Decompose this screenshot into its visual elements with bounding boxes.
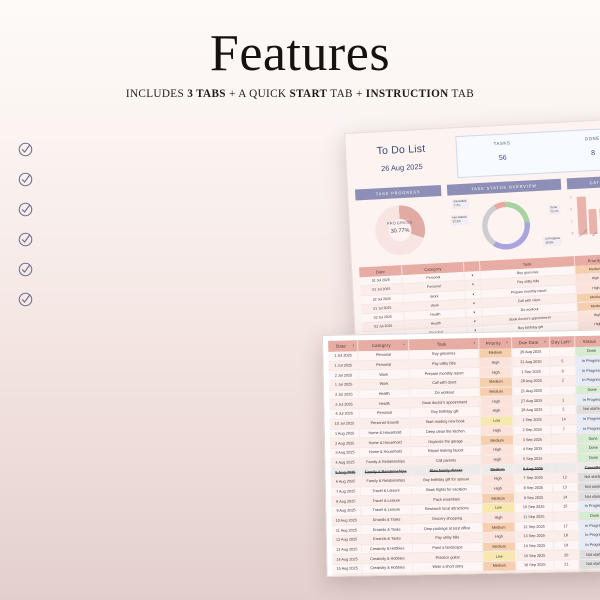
cell-days-left: 5 [550,356,576,366]
cell-task: Run 5 km [413,571,484,577]
status-donut-ring [481,200,531,250]
dashboard-title: To Do List [353,142,449,159]
feature-list [18,140,330,320]
feature-item [18,170,330,187]
category-bars [577,192,600,235]
cell-status: Not started [577,472,600,482]
check-circle-icon [18,142,33,157]
cell-category: Fitness & Sports [362,573,413,577]
cell-days-left: 15 [553,502,579,512]
cell-date: 1 Jul 2025 [329,360,359,370]
dashboard-brand: To Do List 26 Aug 2025 [352,137,450,184]
cell-status: Not started [577,482,600,492]
cell-status: In Progress [578,501,600,511]
cell-date: 4 Aug 2025 [330,457,360,467]
panel-task-status: TASK STATUS OVERVIEW Cancelled7.7% Not s… [446,173,564,258]
cell-days-left [550,347,575,357]
panel-task-progress: TASK PROGRESS PROGRESS 30.77% [355,179,445,262]
cell-date: 1 Jul 2025 [329,380,359,390]
cell-date: 1 Aug 2025 [330,428,360,438]
cell-days-left: 7 [551,424,577,434]
front-column-header[interactable]: Status▾ [575,336,600,348]
dashboard-panel-bars: TASK PROGRESS PROGRESS 30.77% TASK STATU… [355,169,600,263]
front-column-header[interactable]: Due Date▾ [512,337,550,349]
cell-date: 8 Aug 2025 [331,496,361,506]
feature-heading [18,200,330,217]
cell-days-left: 12 [552,473,578,483]
cell-date: 12 Aug 2025 [332,535,362,545]
feature-heading [18,230,330,247]
cell-priority: Low [483,551,516,561]
cell-date: 11 Aug 2025 [332,525,362,535]
cell-date: 16 Aug 2025 [333,574,363,577]
kpi-tasks-label: TASKS [457,138,548,148]
feature-heading [18,170,330,187]
feature-item [18,260,330,277]
cell-days-left: 18 [553,531,579,541]
cell-status: Not started [578,491,600,501]
cell-date: 10 Aug 2025 [331,515,361,525]
feature-item [18,290,330,307]
status-donut-chart: Cancelled7.7% Not started32.3% Done23.1%… [447,190,564,258]
cell-due-date: 17 Sep 2025 [516,570,554,577]
feature-heading [18,140,330,157]
feature-item [18,200,330,217]
cell-days-left [553,511,579,521]
cell-status: In Progress [579,540,600,550]
cell-priority: Medium [483,561,516,571]
check-circle-icon [18,292,33,307]
cell-days-left: 21 [554,560,580,570]
cell-days-left [551,434,577,444]
cell-status: Done [577,453,600,463]
status-label-cancelled: Cancelled7.7% [451,199,468,210]
cell-status: Done [576,385,600,395]
cell-days-left [552,463,578,473]
kpi-box: TASKS 56 DONE 8 [455,127,600,179]
status-label-done: Done23.1% [548,205,561,215]
cell-priority: High [480,406,513,416]
filter-caret-icon[interactable]: ▾ [506,340,508,344]
filter-caret-icon[interactable]: ▾ [569,339,571,343]
cell-date: 9 Aug 2025 [331,506,361,516]
cell-priority: Medium [481,464,514,474]
category-y-axis: 3210 [570,195,574,235]
cell-status: Cancelled [577,462,600,472]
cell-status: In Progress [576,394,600,404]
cell-date: 2 Jul 2025 [329,390,359,400]
cell-date: 14 Aug 2025 [332,554,362,564]
cell-date: 2 Aug 2025 [330,438,360,448]
front-table: Date▾Category▾Task▾Priority▾Due Date▾Day… [328,336,600,577]
front-column-header[interactable]: Priority▾ [479,337,512,349]
cell-days-left: 1 [550,395,576,405]
cell-days-left: 13 [552,482,578,492]
cell-date: 13 Aug 2025 [332,545,362,555]
category-y-tick: 0 [572,231,574,235]
cell-priority: Medium [480,387,513,397]
cell-status: Done [575,347,600,357]
cell-days-left: 20 [553,550,579,560]
cell-priority: High [481,474,514,484]
page-title: Features [0,24,600,83]
cell-date: 7 Aug 2025 [331,486,361,496]
cell-date: 4 Jul 2025 [329,409,359,419]
cell-date: 15 Aug 2025 [332,564,362,574]
cell-priority: Medium [479,377,512,387]
dashboard-date: 26 Aug 2025 [354,161,450,175]
dashboard-screenshot-card[interactable]: To Do List 26 Aug 2025 TASKS 56 DONE 8 [344,117,600,345]
cell-date: 3 Jul 2025 [329,399,359,409]
filter-caret-icon[interactable]: ▾ [544,340,546,344]
cell-days-left: 14 [552,492,578,502]
cell-days-left: 14 [551,414,577,424]
cell-days-left [551,444,577,454]
cell-status: Not started [579,559,600,569]
kpi-done: DONE 8 [547,128,600,173]
cell-status: Done [578,511,600,521]
cell-status: In Progress [575,375,600,385]
category-y-tick: 3 [570,195,572,199]
kpi-tasks: TASKS 56 [456,132,548,177]
panel-category: CATEGORY 3210 PersonalWorkHealthPersonal… [567,169,600,252]
status-label-notstarted: Not started32.3% [450,215,469,226]
check-circle-icon [18,172,33,187]
check-circle-icon [18,232,33,247]
category-y-tick: 2 [570,207,572,211]
page-subtitle: INCLUDES 3 TABS + A QUICK START TAB + IN… [0,88,600,100]
feature-heading [18,290,330,307]
kpi-tasks-value: 56 [457,152,548,164]
cell-priority: High [483,571,516,577]
cell-status: In Progress [578,520,600,530]
cell-status: In Progress [575,365,600,375]
front-column-header[interactable]: Date▾ [328,340,358,352]
check-circle-icon [18,262,33,277]
filter-caret-icon[interactable]: ▾ [403,342,405,346]
cell-status: In Progress [575,356,600,366]
front-table-body: 1 Jul 2025PersonalBuy groceriesMedium26 … [328,347,600,577]
cell-date: 2 Jul 2025 [329,370,359,380]
task-table-screenshot-card[interactable]: Date▾Category▾Task▾Priority▾Due Date▾Day… [322,329,600,577]
category-bar-chart: 3210 PersonalWorkHealthPersonal GrowthHo… [567,186,600,252]
cell-date: 10 Jul 2025 [330,419,360,429]
cell-priority: High [480,396,513,406]
cell-status: Not started [579,549,600,559]
feature-item [18,140,330,157]
cell-days-left [550,385,576,395]
cell-status: Not started [579,569,600,577]
cell-date: 3 Aug 2025 [330,448,360,458]
cell-days-left: 6 [550,366,576,376]
cell-status: In Progress [576,424,600,434]
cell-status: Not started [576,404,600,414]
kpi-done-value: 8 [548,148,600,160]
cell-days-left [552,453,578,463]
cell-status: Done [577,443,600,453]
cell-date: 5 Aug 2025 [331,467,361,477]
cell-days-left: 22 [554,569,580,577]
category-y-tick: 1 [571,219,573,223]
cell-status: In Progress [578,530,600,540]
cell-days-left: 2 [550,376,576,386]
cell-days-left: 19 [553,540,579,550]
cell-priority: Medium [482,493,515,503]
feature-heading [18,260,330,277]
cell-date: 6 Aug 2025 [331,477,361,487]
filter-caret-icon[interactable]: ▾ [473,341,475,345]
front-column-header[interactable]: Day Left▾ [549,336,575,347]
filter-caret-icon[interactable]: ▾ [353,343,355,347]
status-label-inprogress: In Progress36.9% [543,236,562,247]
cell-priority: Low [480,416,513,426]
progress-donut-chart: PROGRESS 30.77% [356,196,445,262]
kpi-done-label: DONE [547,134,600,144]
cell-priority: Medium [483,542,516,552]
feature-item [18,230,330,247]
cell-priority: High [481,483,514,493]
cell-status: Done [577,433,600,443]
check-circle-icon [18,202,33,217]
cell-status: In Progress [576,414,600,424]
cell-days-left: 17 [553,521,579,531]
cell-days-left: 2 [551,405,577,415]
poster-canvas: Features INCLUDES 3 TABS + A QUICK START… [0,0,600,600]
progress-donut-labels: PROGRESS 30.77% [357,219,443,236]
